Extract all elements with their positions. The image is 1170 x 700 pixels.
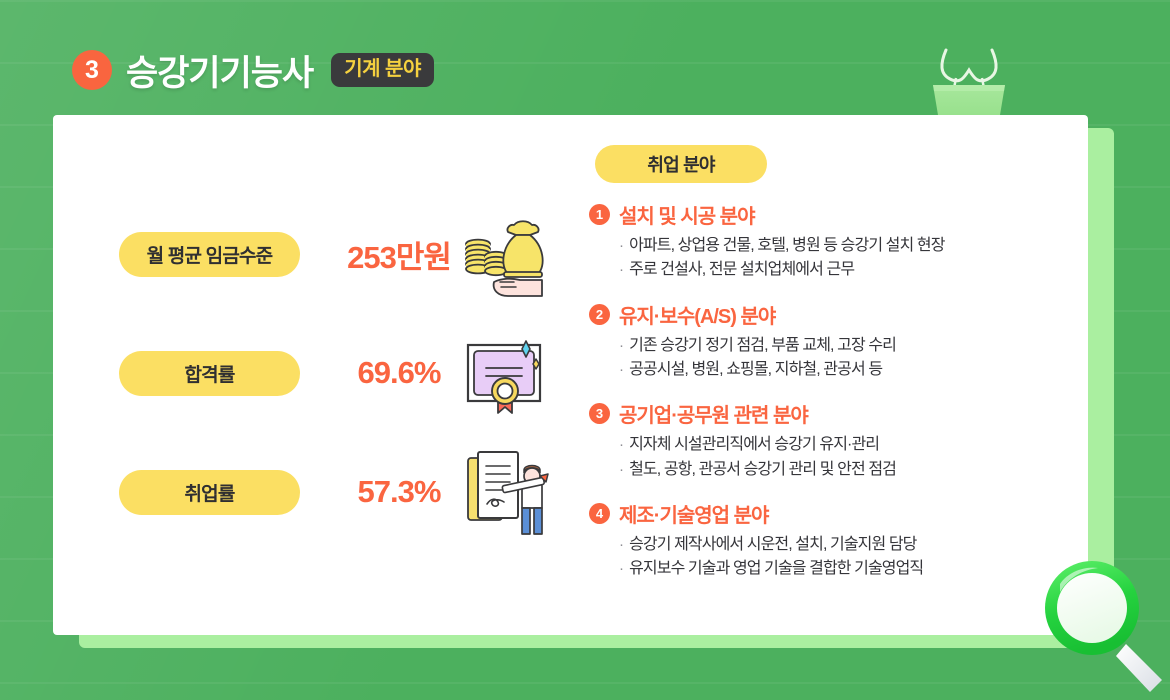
field-group-header: 4 제조·기술영업 분야 xyxy=(589,499,1059,528)
field-group-1: 1 설치 및 시공 분야 · 아파트, 상업용 건물, 호텔, 병원 등 승강기… xyxy=(589,200,1059,283)
stat-label-employment-rate: 취업률 xyxy=(119,470,300,515)
list-item-text: 승강기 제작사에서 시운전, 설치, 기술지원 담당 xyxy=(629,533,916,557)
list-item-text: 철도, 공항, 관공서 승강기 관리 및 안전 점검 xyxy=(629,458,896,482)
header-number-badge: 3 xyxy=(72,50,112,90)
field-title: 공기업·공무원 관련 분야 xyxy=(619,399,808,428)
stats-column: 월 평균 임금수준 253만원 xyxy=(119,232,549,589)
list-item: · 유지보수 기술과 영업 기술을 결합한 기술영업직 xyxy=(619,557,1059,581)
list-item: · 주로 건설사, 전문 설치업체에서 근무 xyxy=(619,258,1059,282)
list-item: · 지자체 시설관리직에서 승강기 유지·관리 xyxy=(619,433,1059,457)
bullet-dot: · xyxy=(619,334,623,357)
list-item: · 공공시설, 병원, 쇼핑몰, 지하철, 관공서 등 xyxy=(619,358,1059,382)
field-number-badge: 2 xyxy=(589,304,610,325)
bullet-dot: · xyxy=(619,533,623,556)
stat-label-pass-rate: 합격률 xyxy=(119,351,300,396)
stat-label-salary: 월 평균 임금수준 xyxy=(119,232,300,277)
field-group-3: 3 공기업·공무원 관련 분야 · 지자체 시설관리직에서 승강기 유지·관리 … xyxy=(589,399,1059,482)
slide-header: 3 승강기기능사 기계 분야 xyxy=(72,44,434,96)
field-number-badge: 1 xyxy=(589,204,610,225)
list-item-text: 아파트, 상업용 건물, 호텔, 병원 등 승강기 설치 현장 xyxy=(629,234,944,258)
bullet-dot: · xyxy=(619,358,623,381)
stat-value-pass-rate: 69.6% xyxy=(329,349,469,397)
field-group-2: 2 유지·보수(A/S) 분야 · 기존 승강기 정기 점검, 부품 교체, 고… xyxy=(589,300,1059,383)
list-item-text: 주로 건설사, 전문 설치업체에서 근무 xyxy=(629,258,854,282)
certificate-icon xyxy=(456,327,552,423)
field-item-list: · 기존 승강기 정기 점검, 부품 교체, 고장 수리 · 공공시설, 병원,… xyxy=(619,334,1059,383)
stat-value-employment-rate: 57.3% xyxy=(329,468,469,516)
field-item-list: · 승강기 제작사에서 시운전, 설치, 기술지원 담당 · 유지보수 기술과 … xyxy=(619,533,1059,582)
field-title: 제조·기술영업 분야 xyxy=(619,499,768,528)
page-title: 승강기기능사 xyxy=(126,45,313,96)
list-item: · 기존 승강기 정기 점검, 부품 교체, 고장 수리 xyxy=(619,334,1059,358)
list-item: · 승강기 제작사에서 시운전, 설치, 기술지원 담당 xyxy=(619,533,1059,557)
field-title: 유지·보수(A/S) 분야 xyxy=(619,300,775,329)
field-group-header: 3 공기업·공무원 관련 분야 xyxy=(589,399,1059,428)
header-category-tag: 기계 분야 xyxy=(331,53,434,87)
stat-value-salary: 253만원 xyxy=(329,230,469,278)
bullet-dot: · xyxy=(619,234,623,257)
list-item-text: 유지보수 기술과 영업 기술을 결합한 기술영업직 xyxy=(629,557,923,581)
money-bag-icon xyxy=(456,208,552,304)
stat-row: 취업률 57.3% xyxy=(119,470,549,589)
bullet-dot: · xyxy=(619,557,623,580)
bullet-dot: · xyxy=(619,258,623,281)
job-fields-heading: 취업 분야 xyxy=(595,145,767,183)
infographic-slide: 3 승강기기능사 기계 분야 월 평균 임금수준 253만원 xyxy=(0,0,1170,700)
field-number-badge: 3 xyxy=(589,403,610,424)
list-item-text: 기존 승강기 정기 점검, 부품 교체, 고장 수리 xyxy=(629,334,896,358)
field-number-badge: 4 xyxy=(589,503,610,524)
field-item-list: · 지자체 시설관리직에서 승강기 유지·관리 · 철도, 공항, 관공서 승강… xyxy=(619,433,1059,482)
list-item-text: 지자체 시설관리직에서 승강기 유지·관리 xyxy=(629,433,879,457)
list-item: · 아파트, 상업용 건물, 호텔, 병원 등 승강기 설치 현장 xyxy=(619,234,1059,258)
field-title: 설치 및 시공 분야 xyxy=(619,200,754,229)
field-group-header: 1 설치 및 시공 분야 xyxy=(589,200,1059,229)
magnifying-glass-icon xyxy=(1030,548,1170,693)
field-group-header: 2 유지·보수(A/S) 분야 xyxy=(589,300,1059,329)
field-item-list: · 아파트, 상업용 건물, 호텔, 병원 등 승강기 설치 현장 · 주로 건… xyxy=(619,234,1059,283)
field-group-4: 4 제조·기술영업 분야 · 승강기 제작사에서 시운전, 설치, 기술지원 담… xyxy=(589,499,1059,582)
job-fields-column: 취업 분야 1 설치 및 시공 분야 · 아파트, 상업용 건물, 호텔, 병원… xyxy=(589,145,1059,582)
bullet-dot: · xyxy=(619,433,623,456)
list-item: · 철도, 공항, 관공서 승강기 관리 및 안전 점검 xyxy=(619,458,1059,482)
list-item-text: 공공시설, 병원, 쇼핑몰, 지하철, 관공서 등 xyxy=(629,358,882,382)
signing-document-icon xyxy=(456,446,552,542)
bullet-dot: · xyxy=(619,458,623,481)
